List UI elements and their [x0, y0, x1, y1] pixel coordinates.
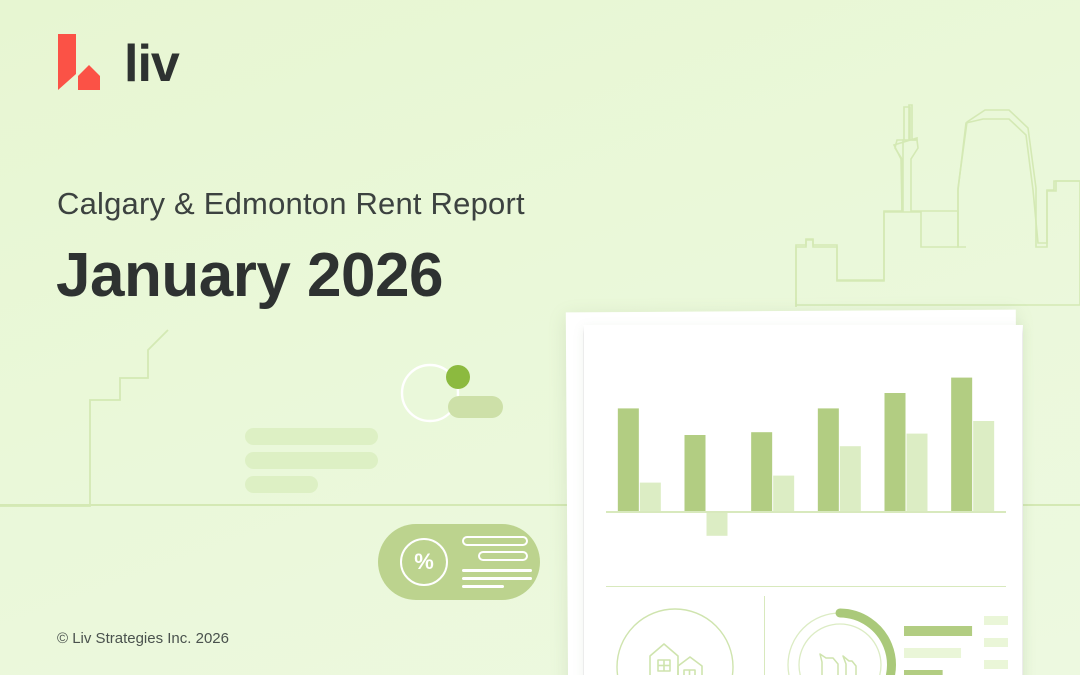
mini-chip — [984, 616, 1008, 625]
pet-friendly-panel — [780, 602, 900, 675]
copyright-text: © Liv Strategies Inc. 2026 — [57, 630, 229, 647]
percent-symbol: % — [400, 538, 448, 586]
document-card[interactable] — [583, 325, 1023, 675]
placeholder-line — [245, 476, 318, 493]
bar — [773, 476, 794, 512]
mini-bar — [904, 670, 943, 675]
placeholder-line — [245, 428, 378, 445]
bar — [640, 483, 661, 512]
bar — [685, 435, 706, 512]
liv-wordmark: liv — [124, 38, 179, 94]
donut-chart-decoration — [398, 360, 503, 435]
liv-logo[interactable]: liv — [52, 32, 179, 94]
badge-line-outline — [478, 551, 528, 561]
bar — [973, 421, 994, 512]
bar — [707, 512, 728, 536]
bar-chart — [606, 364, 1006, 554]
badge-line-outline — [462, 536, 528, 546]
bar — [951, 378, 972, 512]
mini-chip — [984, 660, 1008, 669]
panel-divider-horizontal — [606, 586, 1006, 587]
bar — [818, 408, 839, 512]
bar — [907, 434, 928, 512]
progress-arc — [840, 613, 891, 675]
report-subtitle: Calgary & Edmonton Rent Report — [57, 186, 525, 222]
rent-report-cover: liv Calgary & Edmonton Rent Report Janua… — [0, 0, 1080, 675]
badge-line — [462, 577, 532, 580]
panel-divider-vertical — [764, 596, 765, 675]
mini-bar — [904, 626, 972, 636]
percent-badge[interactable]: % — [378, 524, 540, 600]
badge-lines — [462, 536, 532, 588]
bar — [840, 446, 861, 512]
bar — [618, 408, 639, 512]
badge-line — [462, 585, 504, 588]
mini-bar — [904, 648, 961, 658]
mini-bar-chart — [904, 618, 1012, 675]
bar — [885, 393, 906, 512]
liv-house-logo-icon — [52, 32, 110, 94]
housing-panel — [612, 606, 738, 675]
bar — [751, 432, 772, 512]
mini-chip — [984, 638, 1008, 647]
report-title: January 2026 — [56, 240, 443, 311]
badge-line — [462, 569, 532, 572]
placeholder-line — [245, 452, 378, 469]
